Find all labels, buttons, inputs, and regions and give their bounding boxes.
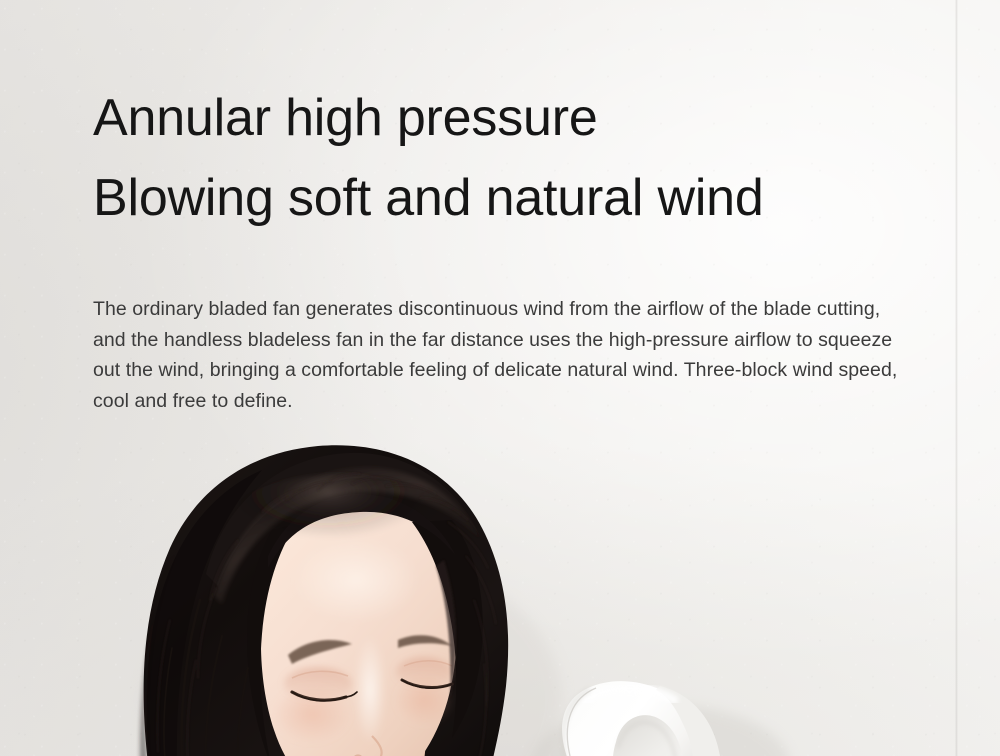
product-feature-page: Annular high pressure Blowing soft and n… <box>0 0 1000 756</box>
feature-description: The ordinary bladed fan generates discon… <box>93 238 905 416</box>
wall-seam-divider <box>955 0 958 756</box>
headline-line-1: Annular high pressure <box>93 78 913 158</box>
headline-line-2: Blowing soft and natural wind <box>93 158 913 238</box>
feature-copy-block: Annular high pressure Blowing soft and n… <box>93 78 913 416</box>
